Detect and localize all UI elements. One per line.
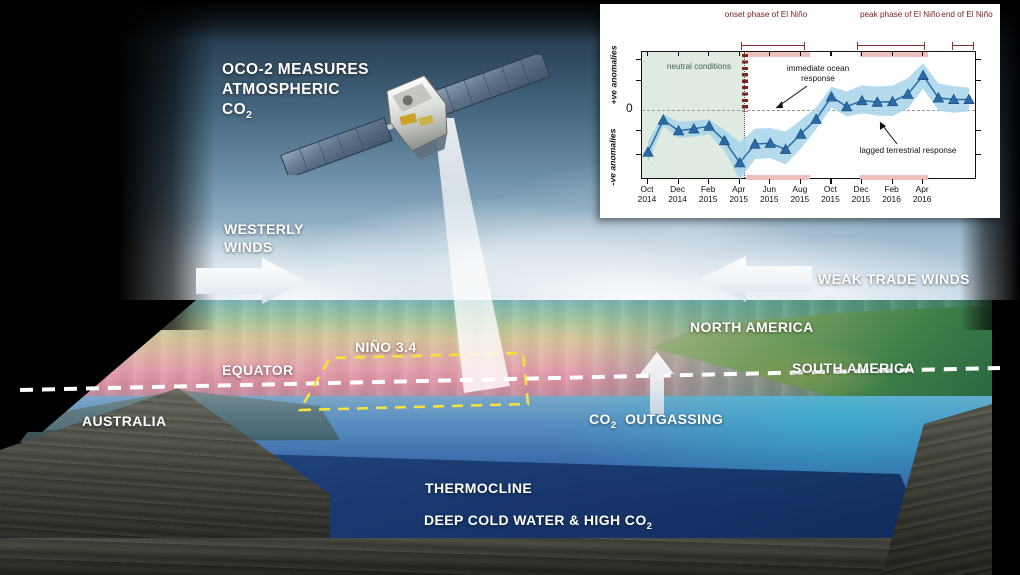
weak-trade-winds-label: WEAK TRADE WINDS xyxy=(818,271,970,287)
y-axis-negative-label: -ve anomalies xyxy=(607,129,617,186)
x-tick-top xyxy=(800,51,801,56)
x-tick-label: Dec2015 xyxy=(844,184,878,204)
north-america-label: NORTH AMERICA xyxy=(690,319,814,335)
nino-34-label: NIÑO 3.4 xyxy=(355,339,417,355)
ocean-block xyxy=(0,300,1020,575)
x-tick-top xyxy=(769,51,770,56)
slab-mask-right xyxy=(992,300,1020,575)
ocean-response-arrowhead xyxy=(776,101,783,108)
el-nino-phase-annotations: onset phase of El Niño peak phase of El … xyxy=(600,6,1000,52)
x-tick-label: Feb2016 xyxy=(875,184,909,204)
end-phase-bracket xyxy=(952,45,974,46)
thermocline-label: THERMOCLINE xyxy=(425,480,532,496)
plot-area: neutral conditions immediate ocean respo… xyxy=(641,51,976,179)
x-tick-top xyxy=(708,51,709,56)
callout-leaders xyxy=(642,52,977,180)
figure-stage: OCO-2 MEASURES ATMOSPHERIC CO2 WESTERLY … xyxy=(0,0,1020,575)
x-tick-top xyxy=(678,51,679,56)
x-tick-label: Aug2015 xyxy=(783,184,817,204)
co2-anomaly-chart-panel: onset phase of El Niño peak phase of El … xyxy=(600,4,1000,218)
co2-subscript: 2 xyxy=(246,109,252,121)
westerly-winds-label: WESTERLY WINDS xyxy=(224,220,304,256)
x-tick-top xyxy=(861,51,862,56)
deep-cold-water-label: DEEP COLD WATER & HIGH CO2 xyxy=(424,512,652,532)
equator-label: EQUATOR xyxy=(222,362,294,378)
x-tick-label: Feb2015 xyxy=(691,184,725,204)
south-america-label: SOUTH AMERICA xyxy=(792,360,915,376)
onset-phase-bracket xyxy=(741,45,805,46)
x-tick-top xyxy=(647,51,648,56)
x-tick-label: Apr2015 xyxy=(722,184,756,204)
sky-vignette-left xyxy=(0,0,215,330)
co2-subscript: 2 xyxy=(647,521,653,532)
x-tick-top xyxy=(922,51,923,56)
onset-phase-label: onset phase of El Niño xyxy=(716,10,816,20)
australia-label: AUSTRALIA xyxy=(82,413,166,429)
x-tick-top xyxy=(739,51,740,56)
peak-phase-bracket xyxy=(857,45,925,46)
x-tick-label: Dec2014 xyxy=(661,184,695,204)
seafloor-cross-section-bottom xyxy=(0,538,1020,575)
y-axis-zero-label: 0 xyxy=(626,101,633,115)
x-tick-label: Oct2014 xyxy=(630,184,664,204)
lagged-terrestrial-response-annotation: lagged terrestrial response xyxy=(854,146,962,156)
y-axis-positive-label: +ve anomalies xyxy=(609,46,619,105)
x-tick-top xyxy=(892,51,893,56)
x-tick-label: Oct2015 xyxy=(813,184,847,204)
co2-outgassing-label: CO2 OUTGASSING xyxy=(589,411,723,431)
satellite-label: OCO-2 MEASURES ATMOSPHERIC CO2 xyxy=(222,60,369,125)
x-tick-label: Apr2016 xyxy=(905,184,939,204)
x-tick-top xyxy=(830,51,831,56)
x-tick-label: Jun2015 xyxy=(752,184,786,204)
end-phase-label: end of El Niño xyxy=(934,10,1000,20)
